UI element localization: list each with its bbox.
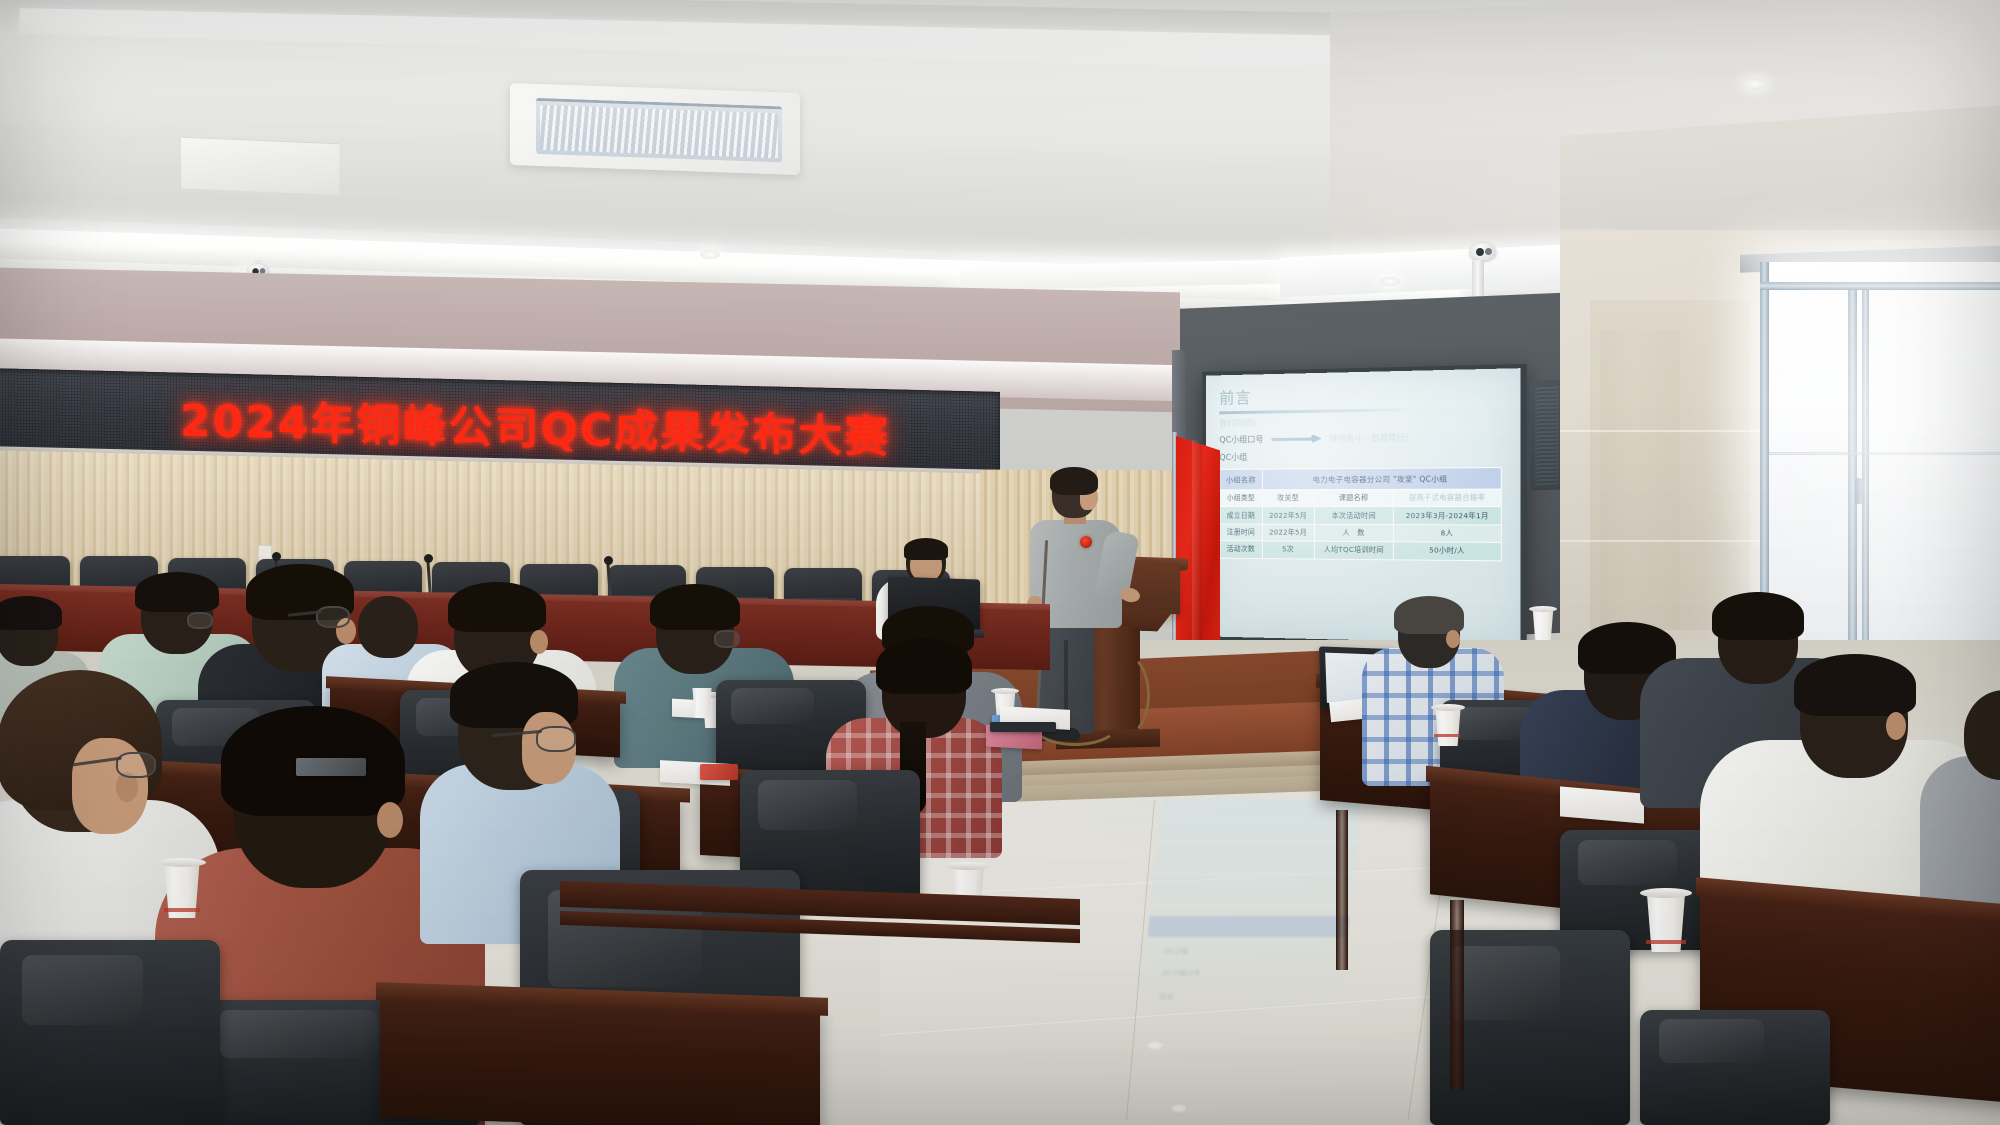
paper-cup-band	[1434, 734, 1460, 737]
glasses	[187, 612, 213, 629]
window-handle[interactable]	[1855, 478, 1862, 504]
phone-on-desk[interactable]	[296, 758, 366, 776]
wall-tile-panel	[1590, 300, 1750, 630]
ceiling-air-vent	[180, 137, 340, 196]
hair	[1794, 654, 1916, 716]
conference-room-photo: 2024年铜峰公司QC成果发布大赛 前言 我们的团队 QC小组口号 拼搏奋斗，昂…	[0, 0, 2000, 1125]
table-cell-header-value: 电力电子电容器分公司 "攻坚" QC小组	[1262, 468, 1501, 490]
floor-highlight	[1172, 1105, 1186, 1112]
glasses	[714, 630, 740, 648]
hair	[650, 584, 740, 630]
hair	[876, 638, 972, 694]
red-booklet	[700, 764, 738, 780]
wall-speaker	[1530, 379, 1564, 490]
slide-subtitle: 我们的团队	[1219, 414, 1512, 429]
table-cell: 本次活动时间	[1314, 507, 1393, 524]
paper-cup-rim	[946, 862, 990, 870]
hair	[448, 582, 546, 632]
paper-cup-rim	[1640, 888, 1692, 898]
table-cell: 8人	[1394, 524, 1502, 542]
power-cable	[1090, 650, 1150, 740]
paper-cup-rim	[991, 688, 1019, 694]
wall-tile-joint	[1560, 540, 1760, 542]
glasses	[316, 606, 350, 628]
ear	[1886, 712, 1906, 740]
downlight	[700, 250, 720, 259]
table-cell: 2022年5月	[1262, 507, 1314, 524]
window-glazing-bar	[1769, 452, 2000, 455]
table-row: 成立日期 2022年5月 本次活动时间 2023年3月-2024年1月	[1220, 507, 1501, 525]
paper-cup-rim	[1529, 606, 1557, 612]
glasses	[116, 752, 156, 778]
table-cell: 人 数	[1314, 524, 1393, 542]
ceiling-cassette-air-conditioner	[510, 83, 800, 175]
window-mullion	[1848, 288, 1857, 662]
table-cell-header-label: 小组名称	[1220, 469, 1262, 490]
hair-greying	[1394, 596, 1464, 634]
presenter-badge-flower	[1080, 536, 1092, 548]
table-cell: 成立日期	[1220, 507, 1262, 524]
microphone-head	[424, 554, 433, 563]
paper-cup-rim	[1431, 704, 1465, 711]
paper-cup-band	[164, 908, 200, 912]
downlight	[1380, 277, 1400, 286]
book-stack	[990, 722, 1056, 732]
head	[358, 596, 418, 658]
slide-slogan-row: QC小组口号 拼搏奋斗，昂首笃行！	[1219, 430, 1512, 446]
floor-highlight	[1148, 1042, 1162, 1049]
presentation-slide: 前言 我们的团队 QC小组口号 拼搏奋斗，昂首笃行！ QC小组 小组名称 电力电…	[1219, 379, 1512, 638]
slide-slogan-text: 拼搏奋斗，昂首笃行！	[1329, 431, 1413, 444]
arrow-right-icon	[1271, 435, 1321, 442]
hair	[1712, 592, 1804, 640]
microphone-head	[604, 556, 613, 565]
paper-cup-band	[1646, 940, 1686, 944]
table-cell: 攻关型	[1262, 490, 1314, 507]
table-cell: 注册时间	[1220, 524, 1262, 541]
table-cell: 活动次数	[1220, 541, 1262, 558]
operator-hair	[904, 538, 948, 560]
dome-security-camera-right	[1470, 238, 1496, 260]
table-row: 小组类型 攻关型 课题名称 提高干式电容器合格率	[1220, 489, 1501, 507]
chair-foreground-3[interactable]	[0, 940, 220, 1125]
ear	[530, 630, 548, 654]
table-cell: 2023年3月-2024年1月	[1394, 507, 1502, 525]
table-cell: 小组类型	[1220, 490, 1262, 507]
table-row: 活动次数 5次 人均TQC培训时间 50小时/人	[1220, 541, 1501, 561]
ear	[1446, 630, 1460, 648]
table-row: 注册时间 2022年5月 人 数 8人	[1220, 524, 1501, 543]
table-cell: 课题名称	[1314, 489, 1393, 506]
flag-fold-shadow	[1192, 440, 1202, 665]
wall-tile-joint	[1560, 430, 1760, 432]
screen-reflection-on-floor: QC小组 QC小组口号 前言	[1138, 800, 1362, 1030]
paper-cup-rim	[158, 858, 206, 867]
table-row: 小组名称 电力电子电容器分公司 "攻坚" QC小组	[1220, 468, 1501, 490]
window-mullion	[1862, 288, 1869, 662]
microphone-head	[272, 552, 281, 561]
window-transom	[1760, 282, 2000, 290]
hair	[135, 572, 219, 612]
paper-cup[interactable]	[1530, 608, 1556, 640]
slide-section-label: QC小组	[1219, 448, 1512, 463]
table-cell: 5次	[1262, 541, 1314, 559]
table-cell: 50小时/人	[1394, 542, 1502, 560]
chair-right-4[interactable]	[1640, 1010, 1830, 1125]
table-cell: 人均TQC培训时间	[1314, 541, 1393, 559]
glasses	[536, 726, 576, 752]
projection-screen: 前言 我们的团队 QC小组口号 拼搏奋斗，昂首笃行！ QC小组 小组名称 电力电…	[1206, 368, 1520, 644]
slide-info-table: 小组名称 电力电子电容器分公司 "攻坚" QC小组 小组类型 攻关型 课题名称 …	[1219, 467, 1501, 561]
hair	[0, 596, 62, 630]
downlight	[1742, 78, 1768, 90]
table-cell: 提高干式电容器合格率	[1394, 489, 1502, 507]
desk-leg	[1336, 810, 1348, 970]
presenter-hair	[1050, 467, 1098, 495]
ear	[377, 802, 403, 838]
slide-title: 前言	[1219, 379, 1512, 409]
desk-leg	[1450, 900, 1464, 1090]
slide-slogan-label: QC小组口号	[1219, 433, 1263, 445]
table-cell: 2022年5月	[1262, 524, 1314, 541]
slide-title-rule	[1219, 408, 1412, 414]
